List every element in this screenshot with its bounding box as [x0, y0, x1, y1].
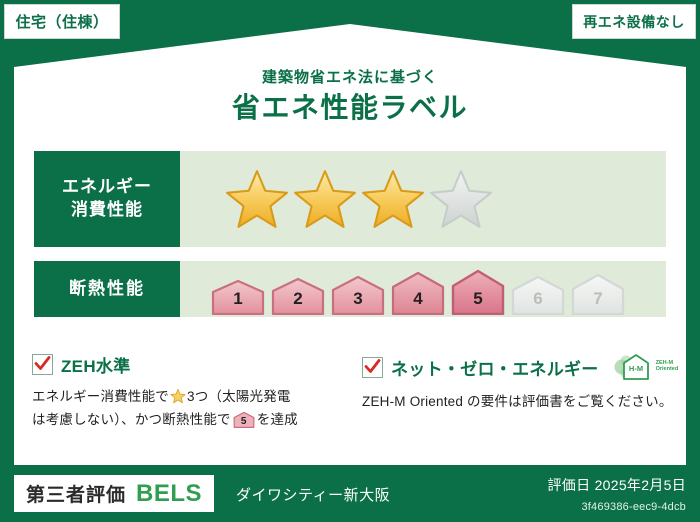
tag-building-type-label: 住宅（住棟） [15, 11, 108, 32]
insulation-level-7: 7 [570, 273, 626, 315]
insulation-level-4: 4 [390, 271, 446, 315]
insulation-level-scale: 1 2 3 [180, 259, 626, 320]
net-zero-energy-body: ZEH-M Oriented の要件は評価書をご覧ください。 [362, 390, 680, 413]
zehm-caption-line2: Oriented [656, 367, 679, 373]
zeh-body-part2: 3つ（太陽光発電 [187, 389, 291, 404]
net-zero-energy-header: ネット・ゼロ・エネルギー H-M ZEH-M Oriented [362, 352, 680, 382]
label-canvas: 住宅（住棟） 再エネ設備なし 建築物省エネ法に基づく 省エネ性能ラベル エネルギ… [0, 0, 700, 522]
star-icon-inline [170, 388, 186, 404]
star-icon-filled-3 [360, 166, 426, 232]
evaluation-id: 3f469386-eec9-4dcb [581, 501, 686, 513]
energy-performance-label: エネルギー 消費性能 [34, 151, 180, 247]
insulation-level-5: 5 [450, 269, 506, 315]
star-rating [180, 166, 494, 232]
evaluation-date: 評価日 2025年2月5日 [547, 475, 686, 495]
check-icon [34, 355, 51, 372]
insulation-level-6-value: 6 [510, 289, 566, 309]
insulation-level-2: 2 [270, 277, 326, 315]
nze-checkbox[interactable] [362, 357, 383, 378]
tag-renewable-equipment: 再エネ設備なし [572, 4, 696, 39]
bels-jp-label: 第三者評価 [26, 480, 126, 507]
energy-label-line1: エネルギー [62, 176, 152, 199]
label-subtitle: 建築物省エネ法に基づく [0, 66, 700, 87]
zeh-body-part4: を達成 [257, 412, 298, 427]
insulation-performance-row: 断熱性能 1 2 [34, 261, 666, 317]
zehm-oriented-logo: H-M ZEH-M Oriented [613, 352, 679, 382]
bels-badge: 第三者評価 BELS [14, 475, 214, 512]
energy-performance-body [180, 151, 666, 247]
zeh-body-part3: は考慮しない）、かつ断熱性能で [32, 412, 231, 427]
net-zero-energy-title: ネット・ゼロ・エネルギー [391, 355, 599, 380]
insulation-level-4-value: 4 [390, 289, 446, 309]
energy-label-line2: 消費性能 [71, 199, 143, 222]
zeh-standard-section: ZEH水準 エネルギー消費性能で3つ（太陽光発電 は考慮しない）、かつ断熱性能で… [32, 352, 342, 431]
insulation-performance-label: 断熱性能 [34, 261, 180, 317]
zeh-standard-title: ZEH水準 [61, 352, 131, 377]
house-icon-inline-5: 5 [233, 411, 255, 428]
insulation-level-3-value: 3 [330, 289, 386, 309]
building-name: ダイワシティー新大阪 [236, 484, 390, 505]
zeh-body-part1: エネルギー消費性能で [32, 389, 169, 404]
bels-en-label: BELS [136, 480, 202, 508]
tag-renewable-equipment-label: 再エネ設備なし [583, 12, 685, 32]
insulation-level-6: 6 [510, 275, 566, 315]
insulation-level-5-value: 5 [450, 289, 506, 309]
insulation-level-3: 3 [330, 275, 386, 315]
net-zero-energy-section: ネット・ゼロ・エネルギー H-M ZEH-M Oriented ZEH-M Or… [362, 352, 680, 413]
insulation-performance-body: 1 2 3 [180, 261, 666, 317]
insulation-level-2-value: 2 [270, 289, 326, 309]
tag-building-type: 住宅（住棟） [4, 4, 120, 39]
insulation-label-text: 断熱性能 [69, 278, 145, 301]
check-icon [364, 358, 381, 375]
svg-text:H-M: H-M [629, 364, 643, 373]
insulation-level-7-value: 7 [570, 289, 626, 309]
zeh-standard-body: エネルギー消費性能で3つ（太陽光発電 は考慮しない）、かつ断熱性能で5を達成 [32, 385, 342, 431]
insulation-level-1-value: 1 [210, 289, 266, 309]
page-title: 省エネ性能ラベル [0, 86, 700, 126]
star-icon-empty-4 [428, 166, 494, 232]
zehm-house-icon: H-M [613, 352, 655, 382]
zeh-checkbox[interactable] [32, 354, 53, 375]
star-icon-filled-2 [292, 166, 358, 232]
insulation-level-1: 1 [210, 279, 266, 315]
zeh-standard-header: ZEH水準 [32, 352, 342, 377]
house-icon-inline-value: 5 [233, 413, 255, 430]
energy-performance-row: エネルギー 消費性能 [34, 151, 666, 247]
star-icon-filled-1 [224, 166, 290, 232]
